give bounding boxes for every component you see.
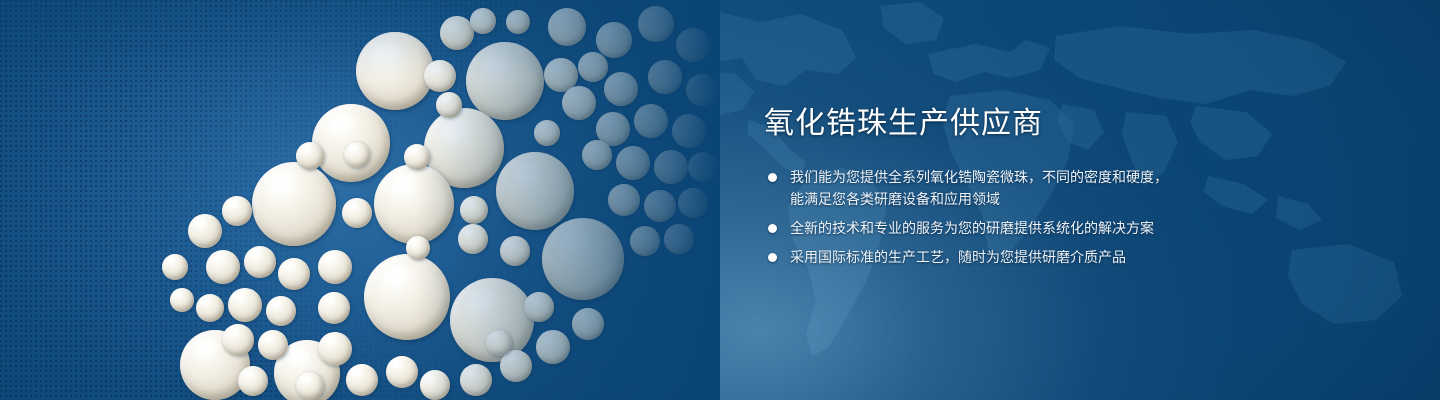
zirconia-beads-photo [0,0,720,400]
photo-edge-fade [0,0,720,400]
banner-copy: 氧化锆珠生产供应商 我们能为您提供全系列氧化锆陶瓷微珠，不同的密度和硬度， 能满… [764,104,1404,268]
feature-bullet-list: 我们能为您提供全系列氧化锆陶瓷微珠，不同的密度和硬度， 能满足您各类研磨设备和应… [764,166,1404,268]
bullet-dot-icon [768,173,777,182]
bullet-text-line1: 采用国际标准的生产工艺，随时为您提供研磨介质产品 [790,249,1126,265]
hero-banner: 氧化锆珠生产供应商 我们能为您提供全系列氧化锆陶瓷微珠，不同的密度和硬度， 能满… [0,0,1440,400]
page-title: 氧化锆珠生产供应商 [764,104,1404,144]
bullet-dot-icon [768,253,777,262]
bullet-text-line1: 全新的技术和专业的服务为您的研磨提供系统化的解决方案 [790,220,1154,236]
bullet-technology-service: 全新的技术和专业的服务为您的研磨提供系统化的解决方案 [764,217,1404,239]
bullet-product-range: 我们能为您提供全系列氧化锆陶瓷微珠，不同的密度和硬度， 能满足您各类研磨设备和应… [764,166,1404,210]
bullet-text-line2: 能满足您各类研磨设备和应用领域 [790,188,1404,210]
bullet-international-standard: 采用国际标准的生产工艺，随时为您提供研磨介质产品 [764,246,1404,268]
bullet-dot-icon [768,224,777,233]
bullet-text-line1: 我们能为您提供全系列氧化锆陶瓷微珠，不同的密度和硬度， [790,169,1168,185]
